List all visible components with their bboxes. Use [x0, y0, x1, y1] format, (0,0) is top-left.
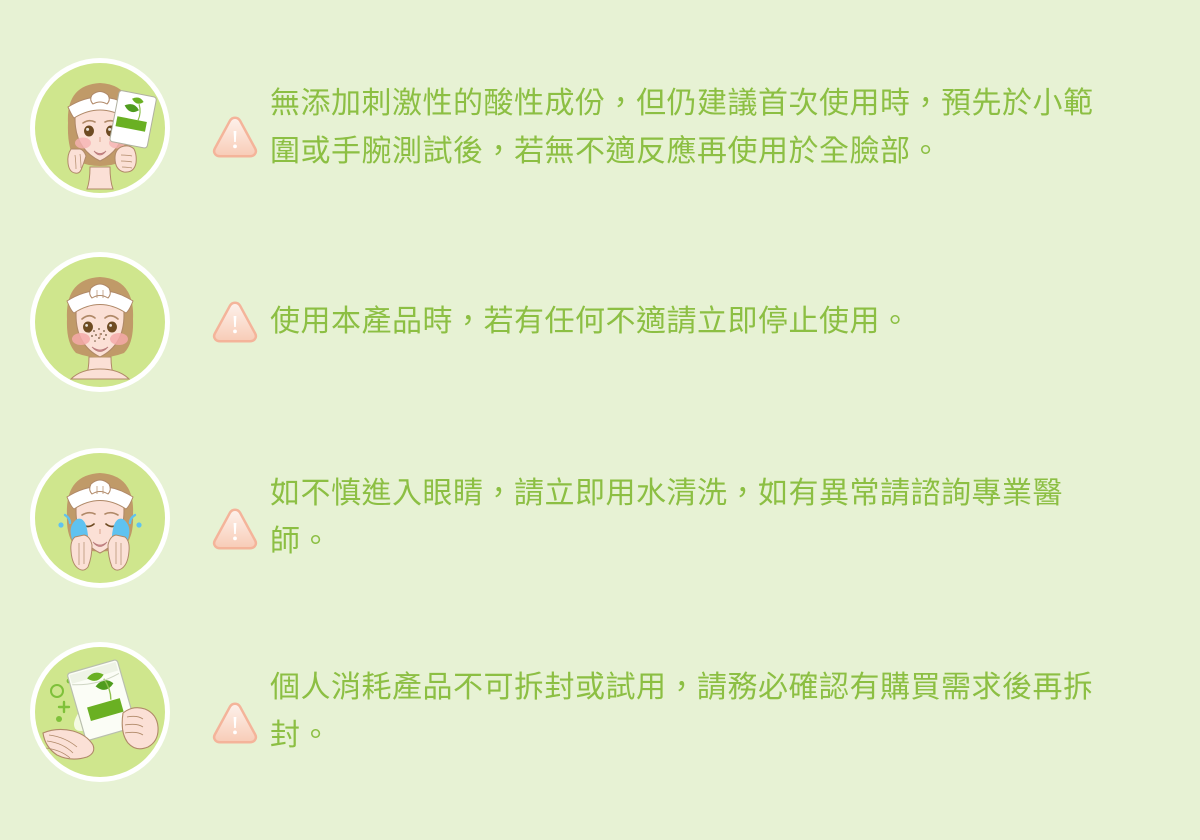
notice-row: 無添加刺激性的酸性成份，但仍建議首次使用時，預先於小範圍或手腕測試後，若無不適反… [0, 38, 1200, 218]
illustration-container [0, 232, 200, 412]
warning-triangle-icon [212, 702, 258, 744]
warning-triangle-icon [212, 508, 258, 550]
illustration-container [0, 38, 200, 218]
warning-icon-container [200, 301, 270, 343]
notice-text: 無添加刺激性的酸性成份，但仍建議首次使用時，預先於小範圍或手腕測試後，若無不適反… [270, 80, 1200, 176]
warning-triangle-icon [212, 116, 258, 158]
medallion-ring [30, 448, 170, 588]
product-precautions-sheet: 無添加刺激性的酸性成份，但仍建議首次使用時，預先於小範圍或手腕測試後，若無不適反… [0, 0, 1200, 840]
illustration-container [0, 428, 200, 608]
warning-triangle-icon [212, 301, 258, 343]
woman-rinsing-face-with-water-illustration [35, 453, 165, 583]
notice-row: 個人消耗產品不可拆封或試用，請務必確認有購買需求後再拆封。 [0, 622, 1200, 802]
medallion-ring [30, 58, 170, 198]
warning-icon-container [200, 486, 270, 550]
warning-icon-container [200, 98, 270, 158]
illustration-container [0, 622, 200, 802]
notice-row: 使用本產品時，若有任何不適請立即停止使用。 [0, 232, 1200, 412]
notice-text: 如不慎進入眼睛，請立即用水清洗，如有異常請諮詢專業醫師。 [270, 470, 1200, 566]
woman-face-with-blemishes-illustration [35, 257, 165, 387]
notice-text: 使用本產品時，若有任何不適請立即停止使用。 [270, 298, 1200, 346]
notice-text: 個人消耗產品不可拆封或試用，請務必確認有購買需求後再拆封。 [270, 664, 1200, 760]
notice-row: 如不慎進入眼睛，請立即用水清洗，如有異常請諮詢專業醫師。 [0, 428, 1200, 608]
medallion-ring [30, 252, 170, 392]
warning-icon-container [200, 680, 270, 744]
hand-holding-sachet-over-palm-illustration [35, 647, 165, 777]
woman-applying-product-to-cheek-illustration [35, 63, 165, 193]
medallion-ring [30, 642, 170, 782]
